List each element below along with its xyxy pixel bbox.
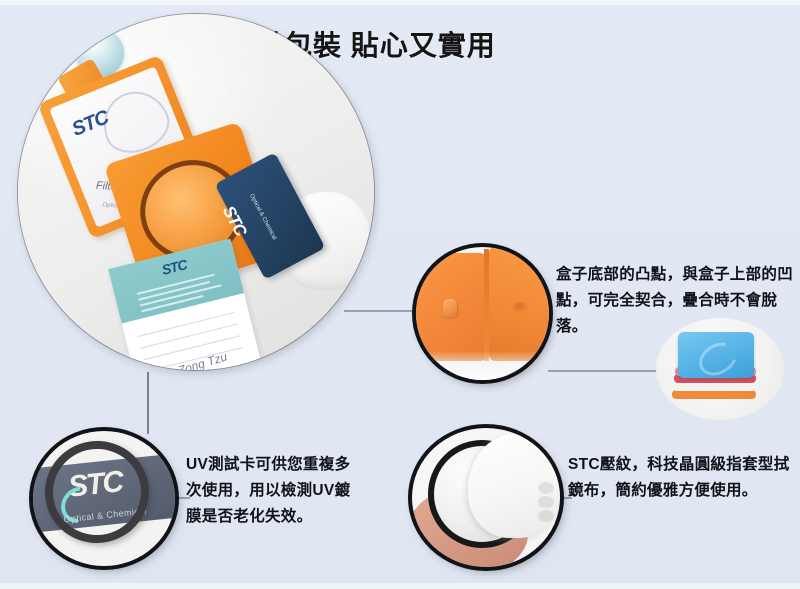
caption-latch: 盒子底部的凸點，與盒子上部的凹點，可完全契合，疊合時不會脫落。 bbox=[556, 262, 796, 340]
latch-photo-base-fade bbox=[416, 352, 549, 380]
caption-cleaning-cloth: STC壓紋，科技晶圓級指套型拭鏡布，簡約優雅方便使用。 bbox=[568, 452, 800, 504]
finger-cot-cleaning-cloth-photo bbox=[412, 428, 560, 567]
cloth-layer-white bbox=[673, 382, 756, 391]
cloth-layer-orange bbox=[672, 390, 756, 399]
cloth-fold bbox=[538, 510, 554, 522]
latch-convex-bump bbox=[443, 299, 457, 317]
connector-hero-to-uvcard bbox=[147, 372, 149, 434]
filter-ring bbox=[38, 434, 155, 549]
finger-cot-cloth bbox=[468, 434, 560, 538]
background-top-strip bbox=[0, 0, 800, 5]
cloth-fold bbox=[538, 482, 554, 494]
blue-card-tagline: Optical & Chemical bbox=[248, 193, 277, 241]
warranty-ruled-line bbox=[140, 324, 237, 349]
stc-logo: STC bbox=[160, 256, 188, 278]
product-feature-poster: 質感精緻包裝 貼心又實用 STC Filter Collection Optic… bbox=[0, 0, 800, 589]
caption-uv-test-card: UV測試卡可供您重複多次使用，用以檢測UV鍍膜是否老化失效。 bbox=[186, 452, 366, 530]
cloth-fold bbox=[538, 496, 554, 508]
case-latch-closeup-photo bbox=[416, 247, 549, 380]
embossed-stc-logo bbox=[693, 336, 743, 382]
hero-product-photo: STC Filter Collection Optical & Chemical… bbox=[18, 14, 374, 370]
uv-test-card-photo: STC Optical & Chemical bbox=[33, 431, 175, 566]
background-bottom-strip bbox=[0, 583, 800, 589]
latch-concave-dimple bbox=[513, 302, 528, 313]
connector-latch-to-clothstack bbox=[548, 370, 666, 372]
